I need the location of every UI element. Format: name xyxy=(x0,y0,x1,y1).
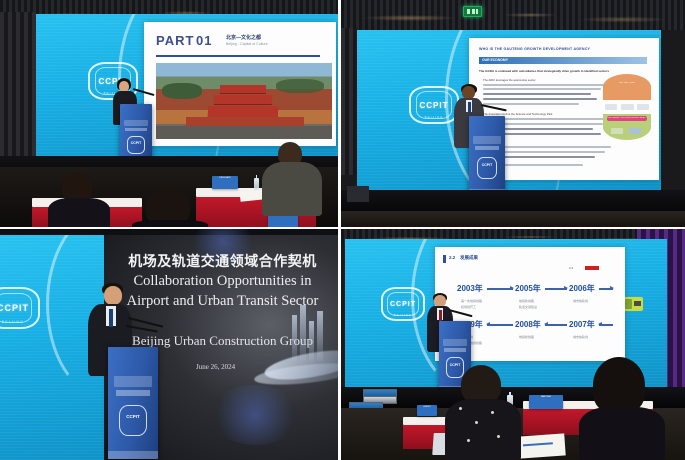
podium-nameplate-secondary-br xyxy=(444,348,466,352)
audience-body-2 xyxy=(132,220,208,229)
timeline-note-5: 城市快轨线 xyxy=(573,299,588,303)
led-screen: CCPIT BEIJING PART 01 北京—文化之都 Beijing - … xyxy=(36,14,338,156)
forbidden-city-photo xyxy=(156,63,332,139)
led-screen-tr: CCPIT BEIJING WHO IS THE GAUTENG GROWTH … xyxy=(357,30,661,190)
body-text-line xyxy=(483,98,597,100)
timeline-arrow-3 xyxy=(599,288,613,290)
podium-nameplate-tr xyxy=(473,136,500,144)
timeline-note-3: 地铁新线路 xyxy=(519,299,534,303)
ggda-slide-heading: WHO IS THE GAUTENG GROWTH DEVELOPMENT AG… xyxy=(479,47,590,51)
ccpit-logo-subtext-bl: BEIJING xyxy=(0,320,40,324)
timeline-year-2005: 2005年 xyxy=(515,283,541,294)
ccpit-logo-screen-bl: CCPIT BEIJING xyxy=(0,287,40,329)
slide-heading-cn: 北京—文化之都 xyxy=(226,34,261,41)
ccpit-logo-subtext-tr: BEIJING xyxy=(409,115,459,119)
ccpit-logo-screen-tr: CCPIT BEIJING xyxy=(409,86,459,124)
ccpit-logo-text-tr: CCPIT xyxy=(420,101,449,110)
ggda-intro-text: The GGDA is endowed with subsidiaries th… xyxy=(479,69,639,73)
body-text-line xyxy=(483,84,607,86)
audience-pattern-dot xyxy=(467,439,470,442)
podium-logo-text: CCPIT xyxy=(120,141,152,145)
slide-glow-accent-2 xyxy=(210,385,300,445)
ccpit-logo-text-bl: CCPIT xyxy=(0,303,29,313)
partner-logo-chip-1 xyxy=(605,104,617,110)
ggda-diagram-top-label: KEY SECTORS xyxy=(609,82,645,98)
podium-nameplate xyxy=(124,120,148,126)
podium-logo-text-bl: CCPIT xyxy=(108,414,158,419)
sponsor-badge-text xyxy=(634,301,641,306)
speaker-tie-tr xyxy=(468,102,471,113)
slide-graphic-bar-2 xyxy=(300,305,306,361)
collage-panel-top-left: CCPIT BEIJING PART 01 北京—文化之都 Beijing - … xyxy=(0,0,341,229)
timeline-note-1: 第一条地铁线路 xyxy=(461,299,482,303)
ccpit-logo-text-br: CCPIT xyxy=(390,301,416,308)
timeline-arrow-5 xyxy=(545,324,567,326)
placard-text-br-1: GUEST xyxy=(417,405,437,409)
podium-logo-diamond xyxy=(127,136,145,154)
timeline-note-2: 机场线开工 xyxy=(461,305,476,309)
audience-body-1 xyxy=(48,198,110,229)
name-placard: DELEGATE xyxy=(212,176,238,189)
ccpit-logo-subtext-br: BEIJING xyxy=(381,313,425,317)
slide-section-number: 2.2 xyxy=(449,255,455,260)
body-text-line xyxy=(483,88,601,90)
speaker-head-bl xyxy=(104,286,122,305)
ggda-section-bar-label: OUR ECONOMY xyxy=(482,58,508,62)
podium-nameplate-secondary-bl xyxy=(116,390,150,397)
timeline-note-4: 轨道交通建设 xyxy=(519,305,537,309)
audience-hair-br-2 xyxy=(593,357,645,413)
podium-nameplate-secondary-tr xyxy=(475,146,500,151)
timeline-year-2007: 2007年 xyxy=(569,319,595,330)
collage-panel-bottom-left: CCPIT BEIJING 机场及轨道交通领域合作契机 Collaboratio… xyxy=(0,229,341,460)
photo-palace-roof-far xyxy=(220,85,266,93)
speaker-tie-bl xyxy=(109,309,113,327)
slide-part-number: 01 xyxy=(196,33,212,48)
body-text-line xyxy=(483,93,591,95)
audience-pattern-dot xyxy=(475,421,478,424)
partner-logo-chip-2 xyxy=(621,104,634,110)
podium-bl: CCPIT xyxy=(108,347,158,459)
slide-graphic-bar-1 xyxy=(292,315,297,361)
name-placard-br-3: PARTNER xyxy=(529,395,563,409)
slide-section-title: 发展成果 xyxy=(460,255,478,261)
partner-logo-chip-5 xyxy=(629,128,641,134)
timeline-year-2006: 2006年 xyxy=(569,283,595,294)
photo-palace-wall xyxy=(186,117,304,126)
stage-equipment-case xyxy=(347,186,369,202)
slide-header-mini-label: 2.2 xyxy=(569,266,573,270)
podium-logo-diamond-bl xyxy=(119,405,147,436)
sponsor-badge-mark xyxy=(625,299,632,309)
podium-nameplate-bl xyxy=(114,376,152,387)
body-text-line xyxy=(483,103,579,105)
collage-panel-bottom-right: CCPIT BEIJING 2.2 发展成果 2.2 2003年 2005年 2… xyxy=(341,229,685,460)
photo-plaza xyxy=(156,126,332,139)
stage-curtain-left xyxy=(0,12,36,157)
audience-body-br-2 xyxy=(579,407,665,460)
slide-header-tick xyxy=(443,255,446,263)
handout-documents xyxy=(518,433,565,458)
partner-logo-chip-3 xyxy=(637,104,649,110)
slide-date: June 26, 2024 xyxy=(196,363,235,371)
handout-accent-line xyxy=(523,442,553,446)
timeline-arrow-4 xyxy=(487,324,513,326)
audience-pattern-dot xyxy=(459,407,462,410)
podium-nameplate-br xyxy=(443,339,467,346)
timeline-arrow-1 xyxy=(487,288,513,290)
placard-text: DELEGATE xyxy=(212,176,238,180)
collage-panel-top-right: CCPIT BEIJING WHO IS THE GAUTENG GROWTH … xyxy=(341,0,685,229)
photo-tree-cluster xyxy=(162,83,202,99)
sponsor-badge-icon xyxy=(623,297,643,311)
timeline-arrow-6 xyxy=(599,324,613,326)
presentation-slide-part01: PART 01 北京—文化之都 Beijing - Capital of Cul… xyxy=(144,22,336,146)
podium-base-bl xyxy=(108,451,158,459)
name-placard-br-1: GUEST xyxy=(417,405,437,416)
partner-logo-chip-4 xyxy=(611,128,623,134)
timeline-year-2008: 2008年 xyxy=(515,319,541,330)
slide-divider-rule xyxy=(156,55,320,57)
timeline-year-2003: 2003年 xyxy=(457,283,483,294)
name-placard-2: SPEAKER xyxy=(268,214,298,228)
ggda-bullet-1: The AIDC leverages the automotive sector xyxy=(483,78,603,82)
podium-logo-text-br: CCPIT xyxy=(439,363,471,367)
audience-body-3 xyxy=(262,162,322,216)
slide-header-accent-red xyxy=(585,266,599,270)
stage-curtain-left-tr xyxy=(341,28,357,175)
photo-palace-roof-main xyxy=(208,106,278,117)
placard-text-br-3: PARTNER xyxy=(529,395,563,399)
exit-sign-icon xyxy=(463,6,482,17)
timeline-note-9: 城市快轨线 xyxy=(573,335,588,339)
slide-heading-en: Beijing - Capital of Culture xyxy=(226,42,268,46)
podium-logo-diamond-br xyxy=(446,357,464,377)
podium-logo-text-tr: CCPIT xyxy=(469,163,505,167)
audience-pattern-dot xyxy=(491,411,494,414)
slide-part-label: PART xyxy=(156,33,194,48)
speaker-tie-br xyxy=(439,310,442,321)
timeline-arrow-2 xyxy=(545,288,567,290)
audience-pattern-dot xyxy=(497,435,500,438)
ceiling-lights-tr xyxy=(341,0,685,30)
slide-title-en-line1: Collaboration Opportunities in xyxy=(104,273,341,290)
slide-title-cn: 机场及轨道交通领域合作契机 xyxy=(104,251,341,271)
floor-tr xyxy=(341,211,685,227)
ccpit-logo-screen-br: CCPIT BEIJING xyxy=(381,287,425,321)
timeline-note-8: 地铁新线路 xyxy=(519,335,534,339)
photo-tree-cluster-2 xyxy=(276,79,324,93)
podium-tr: CCPIT xyxy=(469,116,505,194)
ggda-diagram-pill-label: OUR TARGET SOCIO-ECONOMIC IMPACT xyxy=(607,117,647,119)
podium-nameplate-secondary xyxy=(125,128,147,132)
audience-body-br-1 xyxy=(445,399,521,460)
photo-collage: CCPIT BEIJING PART 01 北京—文化之都 Beijing - … xyxy=(0,0,685,460)
photo-palace-roof-mid xyxy=(214,95,272,104)
podium-logo-diamond-tr xyxy=(477,157,497,179)
